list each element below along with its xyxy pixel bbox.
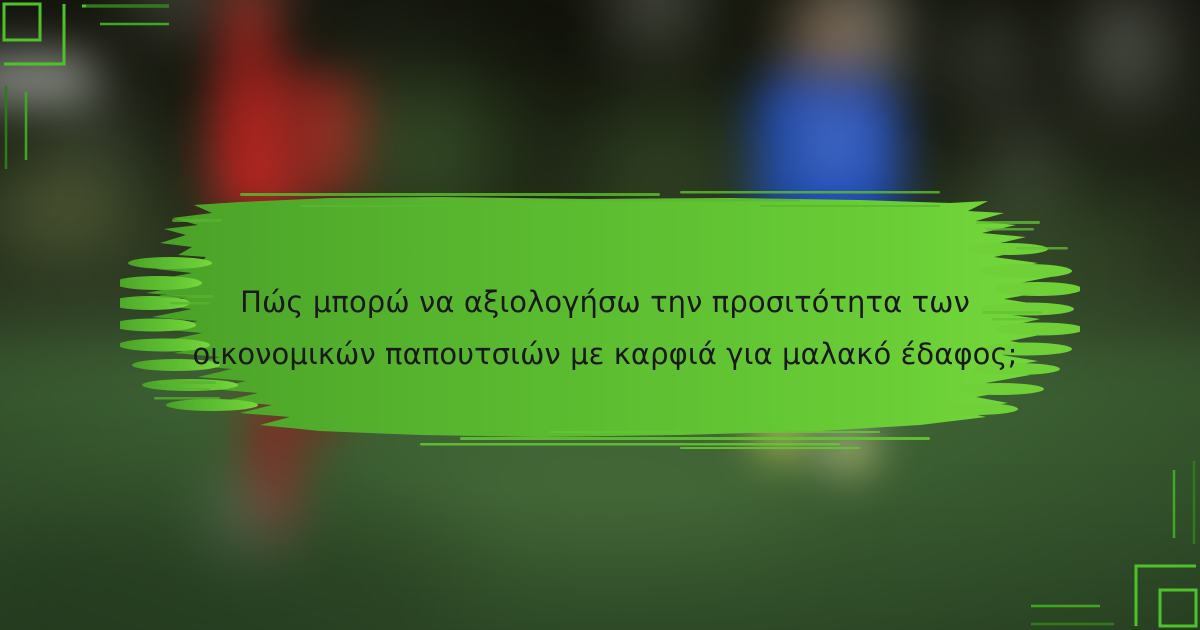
poster-headline: Πώς μπορώ να αξιολογήσω την προσιτότητα …	[190, 276, 1020, 380]
corner-decoration-bottom-right	[1030, 460, 1200, 630]
poster-canvas: Πώς μπορώ να αξιολογήσω την προσιτότητα …	[0, 0, 1200, 630]
corner-decoration-top-left	[0, 0, 170, 170]
